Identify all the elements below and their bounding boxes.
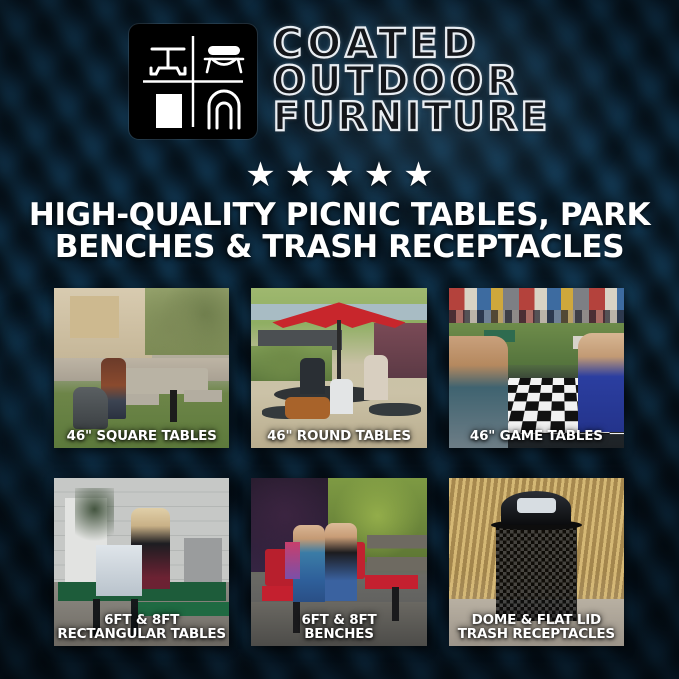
- product-caption-line-1: 46" SQUARE TABLES: [67, 428, 217, 444]
- round-table-with-red-umbrella-photo: [251, 288, 426, 448]
- logo-word-furniture: FURNITURE: [273, 100, 550, 137]
- product-caption: 46" ROUND TABLES: [251, 429, 426, 443]
- product-caption: 6FT & 8FT RECTANGULAR TABLES: [54, 613, 229, 641]
- product-caption-line-2: RECTANGULAR TABLES: [57, 627, 226, 641]
- headline-line-1: HIGH-QUALITY PICNIC TABLES, PARK: [29, 197, 650, 233]
- arch-bike-rack-icon: [209, 91, 239, 128]
- star-icon: ★: [364, 158, 394, 192]
- logo-icon-grid: [129, 24, 257, 139]
- bench-icon: [205, 46, 243, 72]
- product-card-game-tables[interactable]: 46" GAME TABLES: [449, 288, 624, 448]
- product-card-benches[interactable]: 6FT & 8FT BENCHES: [251, 478, 426, 646]
- product-card-square-tables[interactable]: 46" SQUARE TABLES: [54, 288, 229, 448]
- product-card-rectangular-tables[interactable]: 6FT & 8FT RECTANGULAR TABLES: [54, 478, 229, 646]
- product-card-round-tables[interactable]: 46" ROUND TABLES: [251, 288, 426, 448]
- headline-line-2: BENCHES & TRASH RECEPTACLES: [28, 232, 651, 264]
- headline: HIGH-QUALITY PICNIC TABLES, PARK BENCHES…: [0, 200, 679, 264]
- star-icon: ★: [285, 158, 315, 192]
- product-grid: 46" SQUARE TABLES 46" ROUND TABLES: [54, 288, 624, 646]
- product-caption: 6FT & 8FT BENCHES: [251, 613, 426, 641]
- brand-logo: COATED OUTDOOR FURNITURE: [0, 24, 679, 139]
- product-caption-line-1: 46" ROUND TABLES: [267, 428, 411, 444]
- product-caption: 46" SQUARE TABLES: [54, 429, 229, 443]
- product-caption-line-2: BENCHES: [254, 627, 423, 641]
- logo-word-coated: COATED: [273, 26, 481, 64]
- product-caption-line-2: TRASH RECEPTACLES: [452, 627, 621, 641]
- star-rating: ★ ★ ★ ★ ★: [0, 158, 679, 192]
- promo-banner: COATED OUTDOOR FURNITURE ★ ★ ★ ★ ★ HIGH-…: [0, 0, 679, 679]
- star-icon: ★: [324, 158, 354, 192]
- star-icon: ★: [403, 158, 433, 192]
- game-table-checkerboard-photo: [449, 288, 624, 448]
- product-caption: 46" GAME TABLES: [449, 429, 624, 443]
- star-icon: ★: [245, 158, 275, 192]
- product-caption-line-1: 46" GAME TABLES: [470, 428, 603, 444]
- square-table-with-person-and-dog-photo: [54, 288, 229, 448]
- logo-wordmark: COATED OUTDOOR FURNITURE: [273, 26, 550, 137]
- trash-receptacle-icon: [156, 94, 182, 128]
- product-card-trash-receptacles[interactable]: DOME & FLAT LID TRASH RECEPTACLES: [449, 478, 624, 646]
- picnic-table-icon: [151, 49, 185, 74]
- banner-content: COATED OUTDOOR FURNITURE ★ ★ ★ ★ ★ HIGH-…: [0, 0, 679, 679]
- product-caption: DOME & FLAT LID TRASH RECEPTACLES: [449, 613, 624, 641]
- logo-mark-tiles: [129, 24, 257, 139]
